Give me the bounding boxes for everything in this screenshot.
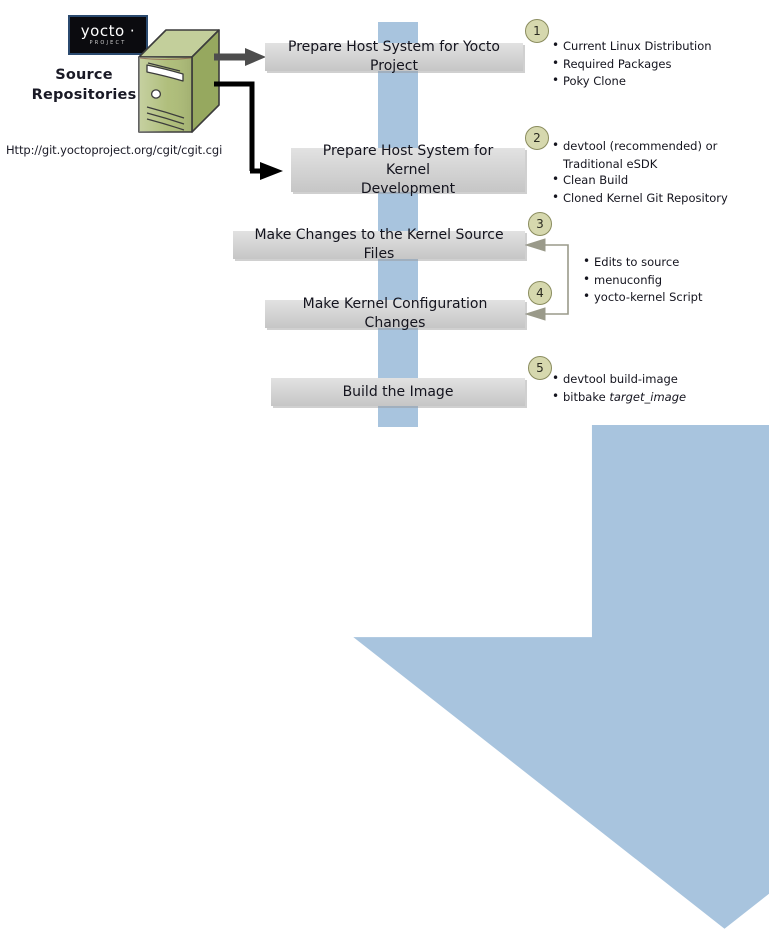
- process-box-prepare-host-kernel[interactable]: Prepare Host System for Kernel Developme…: [291, 148, 525, 192]
- step-badge-4-number: 4: [536, 286, 544, 300]
- list-item: Required Packages: [552, 56, 764, 73]
- list-item: menuconfig: [583, 272, 763, 289]
- list-item: Clean Build: [552, 172, 764, 189]
- bitbake-target-arg: target_image: [609, 390, 686, 404]
- box3-label: Make Changes to the Kernel Source Files: [241, 226, 517, 264]
- bitbake-command: bitbake: [563, 390, 609, 404]
- step-5-bullet-list: devtool build-image bitbake target_image: [552, 371, 764, 406]
- step-badge-2: 2: [525, 126, 549, 150]
- list-item: Cloned Kernel Git Repository: [552, 190, 764, 207]
- box2-label: Prepare Host System for Kernel Developme…: [299, 142, 517, 199]
- step-badge-5: 5: [528, 356, 552, 380]
- step-badge-1: 1: [525, 19, 549, 43]
- list-item-continuation: Traditional eSDK: [552, 156, 764, 173]
- list-item: yocto-kernel Script: [583, 289, 763, 306]
- list-item: devtool (recommended) or: [552, 138, 764, 155]
- list-item: devtool build-image: [552, 371, 764, 388]
- step-1-bullet-list: Current Linux Distribution Required Pack…: [552, 38, 764, 91]
- step-badge-2-number: 2: [533, 131, 541, 145]
- list-item: Poky Clone: [552, 73, 764, 90]
- box4-label: Make Kernel Configuration Changes: [273, 295, 517, 333]
- box1-label: Prepare Host System for Yocto Project: [273, 38, 515, 76]
- step-2-bullet-list: devtool (recommended) or Traditional eSD…: [552, 138, 764, 207]
- step-badge-3: 3: [528, 212, 552, 236]
- box5-label: Build the Image: [343, 383, 454, 402]
- process-box-prepare-host-yocto[interactable]: Prepare Host System for Yocto Project: [265, 43, 523, 71]
- step-badge-1-number: 1: [533, 24, 541, 38]
- process-box-build-image[interactable]: Build the Image: [271, 378, 525, 406]
- process-box-make-kernel-config-changes[interactable]: Make Kernel Configuration Changes: [265, 300, 525, 328]
- list-item: Current Linux Distribution: [552, 38, 764, 55]
- list-item: Edits to source: [583, 254, 763, 271]
- list-item: bitbake target_image: [552, 389, 764, 406]
- diagram-canvas: yocto · PROJECT Source Repositories Http…: [0, 0, 769, 517]
- process-box-make-kernel-source-changes[interactable]: Make Changes to the Kernel Source Files: [233, 231, 525, 259]
- step-badge-5-number: 5: [536, 361, 544, 375]
- step-badge-3-number: 3: [536, 217, 544, 231]
- step-badge-4: 4: [528, 281, 552, 305]
- box2-label-line1: Prepare Host System for Kernel: [323, 143, 493, 178]
- steps-3-4-bullet-list: Edits to source menuconfig yocto-kernel …: [583, 254, 763, 307]
- box2-label-line2: Development: [361, 181, 455, 197]
